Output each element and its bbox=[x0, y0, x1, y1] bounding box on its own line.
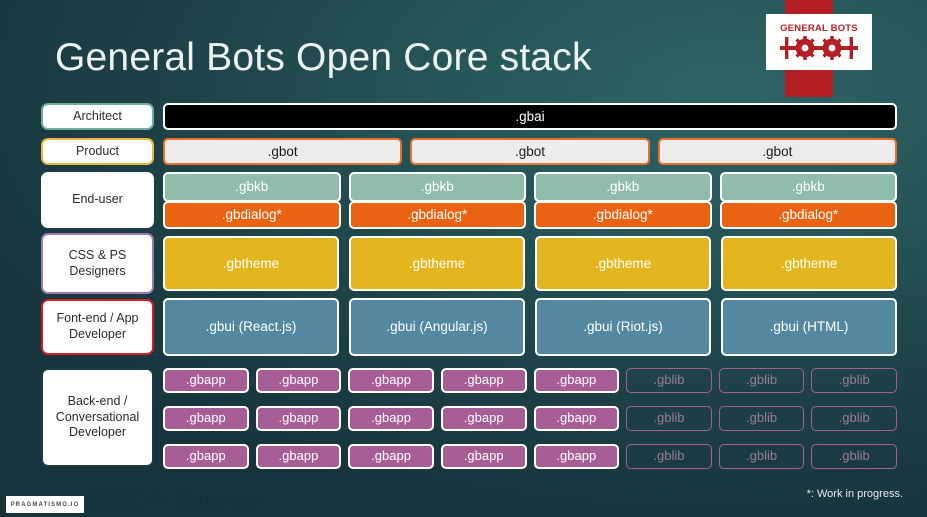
gblib-cell[interactable]: .gblib bbox=[626, 406, 712, 431]
gbapp-cell[interactable]: .gbapp bbox=[256, 444, 342, 469]
gbkb-row-cell[interactable]: .gbkb bbox=[163, 172, 341, 202]
gbui-row-cell[interactable]: .gbui (React.js) bbox=[163, 298, 339, 356]
gbdialog-row-cell[interactable]: .gbdialog* bbox=[349, 201, 527, 229]
gbot-row-cell[interactable]: .gbot bbox=[658, 138, 897, 165]
gbdialog-row-cell[interactable]: .gbdialog* bbox=[163, 201, 341, 229]
role-label-back-end: Back-end /ConversationalDeveloper bbox=[41, 368, 154, 467]
gbui-row-cell[interactable]: .gbui (HTML) bbox=[721, 298, 897, 356]
role-label-end-user: End-user bbox=[41, 172, 154, 228]
gbui-row-cell[interactable]: .gbui (Riot.js) bbox=[535, 298, 711, 356]
work-in-progress-note: *: Work in progress. bbox=[807, 488, 903, 500]
slide-canvas: GENERAL BOTS bbox=[0, 0, 927, 517]
gbapp-cell[interactable]: .gbapp bbox=[163, 368, 249, 393]
pragmatismo-logo: PRAGMATISMO.IO bbox=[6, 496, 84, 513]
gbkb-row-cell[interactable]: .gbkb bbox=[349, 172, 527, 202]
gbdialog-row-cell[interactable]: .gbdialog* bbox=[720, 201, 898, 229]
gblib-cell[interactable]: .gblib bbox=[811, 368, 897, 393]
role-label-font-end: Font-end / AppDeveloper bbox=[41, 299, 154, 355]
gbapp-cell[interactable]: .gbapp bbox=[348, 368, 434, 393]
role-label-product: Product bbox=[41, 138, 154, 165]
gbui-row-cell[interactable]: .gbui (Angular.js) bbox=[349, 298, 525, 356]
gbapp-cell[interactable]: .gbapp bbox=[441, 444, 527, 469]
gbapp-cell[interactable]: .gbapp bbox=[534, 444, 620, 469]
gbdialog-row-cell[interactable]: .gbdialog* bbox=[534, 201, 712, 229]
gbapp-cell[interactable]: .gbapp bbox=[534, 368, 620, 393]
gbkb-row-cell[interactable]: .gbkb bbox=[720, 172, 898, 202]
gbapp-cell[interactable]: .gbapp bbox=[348, 406, 434, 431]
gbapp-cell[interactable]: .gbapp bbox=[163, 444, 249, 469]
gbtheme-row-cell[interactable]: .gbtheme bbox=[721, 236, 897, 291]
role-label-architect: Architect bbox=[41, 103, 154, 130]
gbai-row-cell[interactable]: .gbai bbox=[163, 103, 897, 130]
gblib-cell[interactable]: .gblib bbox=[626, 368, 712, 393]
gbapp-cell[interactable]: .gbapp bbox=[534, 406, 620, 431]
gbapp-cell[interactable]: .gbapp bbox=[441, 368, 527, 393]
gbtheme-row-cell[interactable]: .gbtheme bbox=[535, 236, 711, 291]
footer-caption: 2018Q4 - Corporate bbox=[90, 490, 259, 512]
gbtheme-row-cell[interactable]: .gbtheme bbox=[349, 236, 525, 291]
gbtheme-row-cell[interactable]: .gbtheme bbox=[163, 236, 339, 291]
logo-wordmark: GENERAL BOTS bbox=[780, 23, 858, 34]
gbapp-cell[interactable]: .gbapp bbox=[256, 406, 342, 431]
gbot-row-cell[interactable]: .gbot bbox=[163, 138, 402, 165]
role-label-css: CSS & PSDesigners bbox=[41, 233, 154, 294]
gblib-cell[interactable]: .gblib bbox=[811, 444, 897, 469]
gbapp-cell[interactable]: .gbapp bbox=[256, 368, 342, 393]
page-title: General Bots Open Core stack bbox=[55, 36, 592, 80]
general-bots-logo: GENERAL BOTS bbox=[766, 14, 872, 70]
gblib-cell[interactable]: .gblib bbox=[719, 368, 805, 393]
gbkb-row-cell[interactable]: .gbkb bbox=[534, 172, 712, 202]
gblib-cell[interactable]: .gblib bbox=[626, 444, 712, 469]
pragmatismo-wordmark: PRAGMATISMO.IO bbox=[11, 502, 80, 508]
gblib-cell[interactable]: .gblib bbox=[719, 444, 805, 469]
gbapp-cell[interactable]: .gbapp bbox=[348, 444, 434, 469]
gbapp-cell[interactable]: .gbapp bbox=[441, 406, 527, 431]
gblib-cell[interactable]: .gblib bbox=[811, 406, 897, 431]
gears-barbell-icon bbox=[780, 35, 858, 61]
gblib-cell[interactable]: .gblib bbox=[719, 406, 805, 431]
gbapp-cell[interactable]: .gbapp bbox=[163, 406, 249, 431]
gbot-row-cell[interactable]: .gbot bbox=[410, 138, 649, 165]
